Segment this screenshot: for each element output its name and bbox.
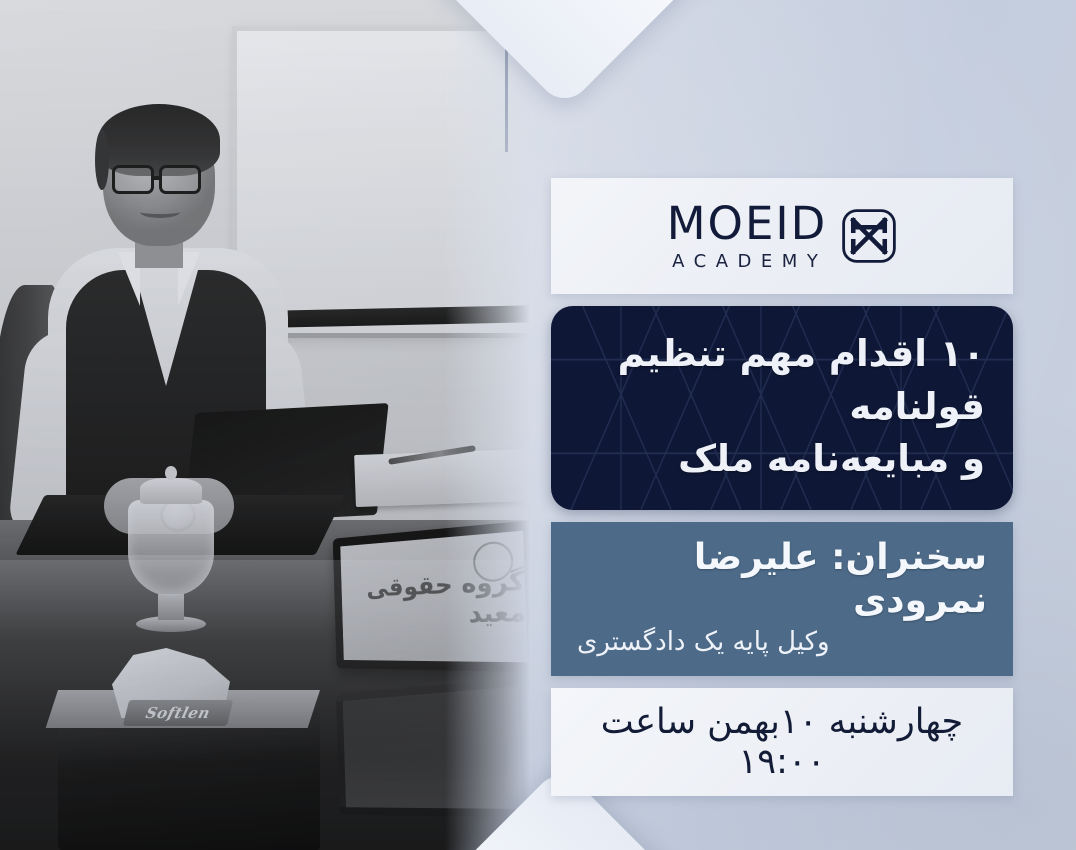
webinar-poster: گروه حقوقی معید Softlen <box>0 0 1076 850</box>
speaker-name: سخنران: علیرضا نمرودی <box>577 536 987 622</box>
content-cards: MOEID ACADEMY ۱۰ اقدام مهم تنظیم قولنامه… <box>551 178 1013 796</box>
brand-wordmark: MOEID ACADEMY <box>667 201 828 272</box>
speaker-photo: گروه حقوقی معید Softlen <box>0 0 530 850</box>
speaker-role: وکیل پایه یک دادگستری <box>577 625 830 660</box>
brand-subtitle: ACADEMY <box>672 251 827 272</box>
photo-duotone-tint <box>0 0 530 850</box>
event-datetime: چهارشنبه ۱۰بهمن ساعت ۱۹:۰۰ <box>575 702 989 782</box>
brand-logo-card: MOEID ACADEMY <box>551 178 1013 294</box>
speaker-card: سخنران: علیرضا نمرودی وکیل پایه یک دادگس… <box>551 522 1013 676</box>
title-line-1: ۱۰ اقدام مهم تنظیم قولنامه <box>579 328 985 433</box>
brand-title: MOEID <box>667 201 828 246</box>
title-card: ۱۰ اقدام مهم تنظیم قولنامه و مبایعه‌نامه… <box>551 306 1013 510</box>
title-line-2: و مبایعه‌نامه ملک <box>579 433 985 486</box>
date-card: چهارشنبه ۱۰بهمن ساعت ۱۹:۰۰ <box>551 688 1013 796</box>
moeid-x-monogram-icon <box>841 208 897 264</box>
